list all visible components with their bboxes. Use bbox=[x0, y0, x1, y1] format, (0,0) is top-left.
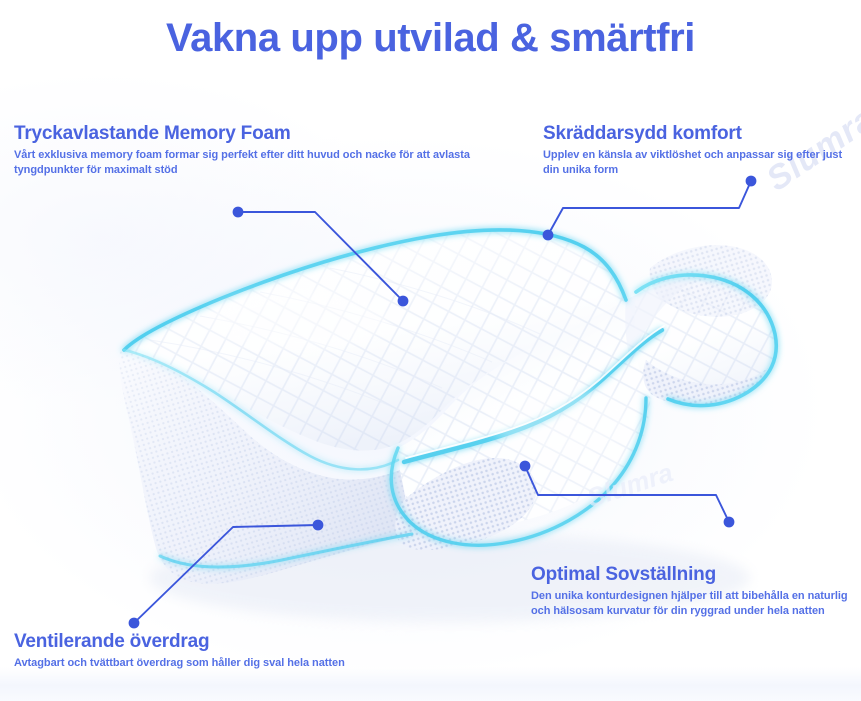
callout-tryckavlastande-memory-foam: Tryckavlastande Memory Foam Vårt exklusi… bbox=[14, 122, 514, 177]
callout-heading: Ventilerande överdrag bbox=[14, 630, 494, 653]
callout-ventilerande-overdrag: Ventilerande överdrag Avtagbart och tvät… bbox=[14, 630, 494, 671]
callout-heading: Skräddarsydd komfort bbox=[543, 122, 853, 145]
infographic-page: Slumra Slumra Vakna upp utvilad & smärtf… bbox=[0, 0, 861, 701]
callout-body: Den unika konturdesignen hjälper till at… bbox=[531, 589, 857, 618]
callout-heading: Optimal Sovställning bbox=[531, 563, 857, 586]
callout-heading: Tryckavlastande Memory Foam bbox=[14, 122, 514, 145]
bottom-fade-band bbox=[0, 667, 861, 701]
callout-body: Vårt exklusiva memory foam formar sig pe… bbox=[14, 148, 514, 177]
callout-skraddarsydd-komfort: Skräddarsydd komfort Upplev en känsla av… bbox=[543, 122, 853, 177]
callout-body: Upplev en känsla av viktlöshet och anpas… bbox=[543, 148, 853, 177]
page-title: Vakna upp utvilad & smärtfri bbox=[0, 14, 861, 62]
callout-optimal-sovstallning: Optimal Sovställning Den unika konturdes… bbox=[531, 563, 857, 618]
